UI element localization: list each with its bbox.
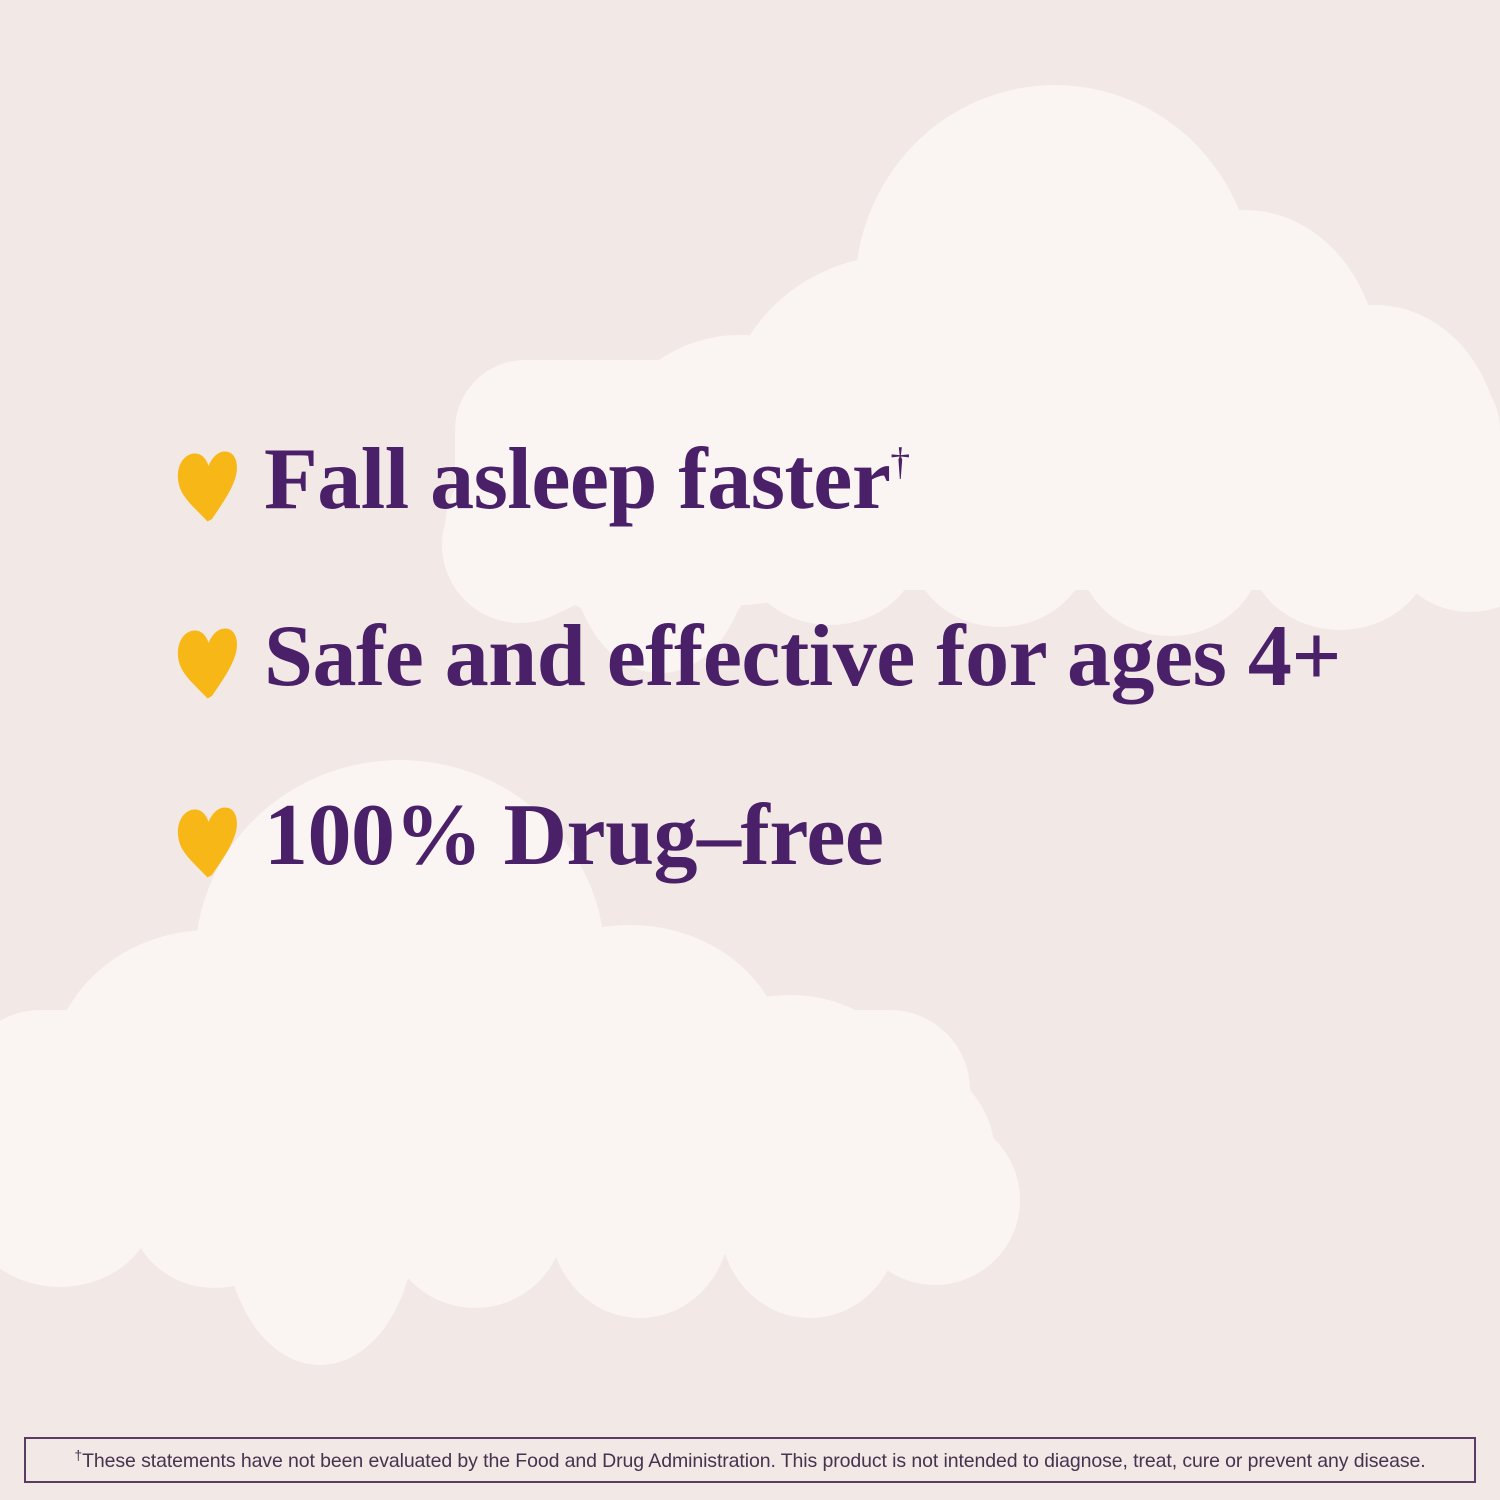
benefit-label-3: 100% Drug–free xyxy=(264,792,883,880)
heart-icon xyxy=(176,449,238,523)
heart-icon xyxy=(176,626,238,700)
benefit-item-1: Fall asleep faster† xyxy=(176,440,910,528)
benefit-item-2: Safe and effective for ages 4+ xyxy=(176,617,1341,705)
cloud-top xyxy=(442,85,1500,673)
dagger-superscript-1: † xyxy=(890,439,910,483)
benefit-item-3: 100% Drug–free xyxy=(176,796,883,884)
promo-card: Fall asleep faster† Safe and effective f… xyxy=(0,0,1500,1500)
footnote-box: †These statements have not been evaluate… xyxy=(24,1437,1476,1483)
footnote-text: †These statements have not been evaluate… xyxy=(74,1448,1425,1472)
heart-icon xyxy=(176,805,238,879)
dagger-marker: † xyxy=(74,1447,82,1463)
cloud-background xyxy=(0,0,1500,1500)
benefit-label-2: Safe and effective for ages 4+ xyxy=(264,613,1341,701)
benefit-label-1: Fall asleep faster† xyxy=(264,436,910,524)
